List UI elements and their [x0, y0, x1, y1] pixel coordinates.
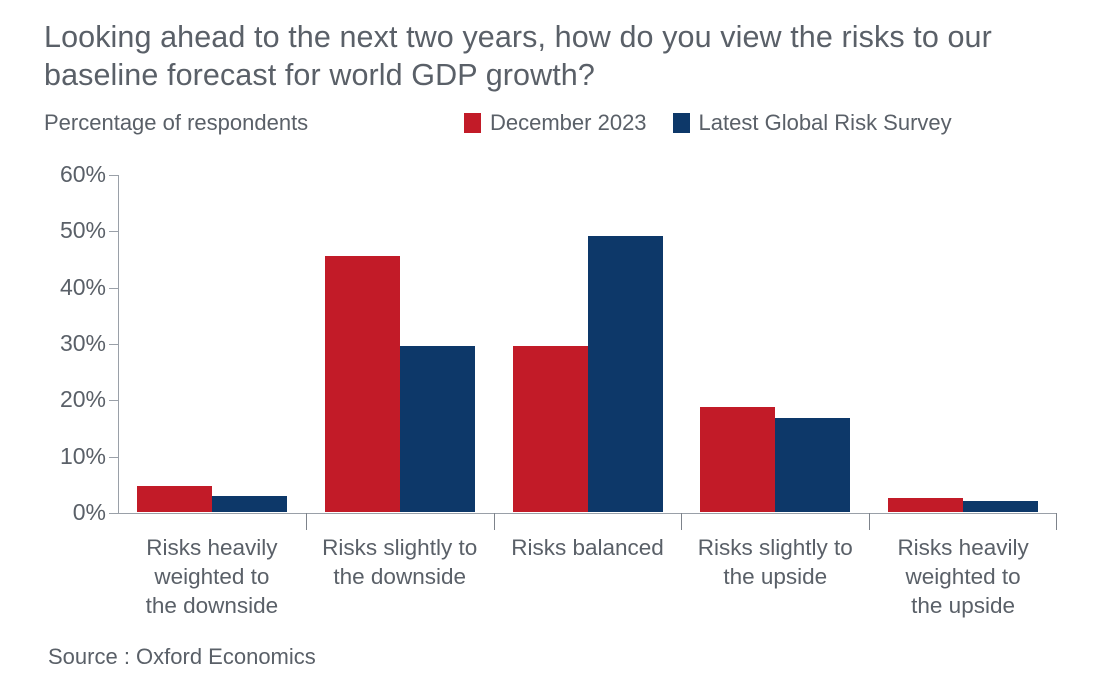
bar-latest-global-risk-survey-1[interactable] [212, 496, 287, 512]
legend-swatch-icon [464, 113, 481, 133]
x-axis-separator [306, 513, 307, 530]
title-block: Looking ahead to the next two years, how… [44, 18, 1074, 94]
legend-item-2[interactable]: Latest Global Risk Survey [673, 108, 952, 138]
y-axis-tick-label: 20% [0, 388, 106, 411]
bar-latest-global-risk-survey-3[interactable] [588, 236, 663, 512]
y-axis-tick [109, 344, 118, 345]
x-axis-separator [494, 513, 495, 530]
y-axis-tick-label: 60% [0, 163, 106, 186]
legend-label: December 2023 [490, 108, 647, 138]
subtitle-legend-row: Percentage of respondents December 2023L… [44, 108, 1064, 140]
x-axis-category-label-3: Risks balanced [488, 533, 688, 562]
page-title: Looking ahead to the next two years, how… [44, 18, 1074, 94]
source-note: Source : Oxford Economics [48, 643, 316, 671]
bar-december-2023-4[interactable] [700, 407, 775, 512]
x-axis-category-label-5: Risks heavily weighted to the upside [863, 533, 1063, 620]
bar-december-2023-5[interactable] [888, 498, 963, 512]
legend-swatch-icon [673, 113, 690, 133]
y-axis-tick [109, 288, 118, 289]
bar-december-2023-2[interactable] [325, 256, 400, 512]
x-axis-separator [681, 513, 682, 530]
y-axis-tick-label: 0% [0, 501, 106, 524]
x-axis-category-label-1: Risks heavily weighted to the downside [112, 533, 312, 620]
chart-root: Looking ahead to the next two years, how… [0, 0, 1097, 685]
y-axis-tick-label: 30% [0, 332, 106, 355]
bar-december-2023-3[interactable] [513, 346, 588, 512]
y-axis-line [118, 175, 119, 514]
x-axis-separator [1056, 513, 1057, 530]
legend-item-1[interactable]: December 2023 [464, 108, 647, 138]
bar-latest-global-risk-survey-2[interactable] [400, 346, 475, 512]
plot-area [118, 175, 1057, 513]
x-axis-category-label-2: Risks slightly to the downside [300, 533, 500, 591]
y-axis-tick-label: 50% [0, 219, 106, 242]
bar-latest-global-risk-survey-4[interactable] [775, 418, 850, 512]
x-axis-category-labels: Risks heavily weighted to the downsideRi… [118, 533, 1057, 643]
x-axis-line [118, 513, 1057, 514]
y-axis-labels: 0%10%20%30%40%50%60% [0, 175, 106, 514]
bar-latest-global-risk-survey-5[interactable] [963, 501, 1038, 512]
bar-december-2023-1[interactable] [137, 486, 212, 512]
y-axis-tick [109, 175, 118, 176]
y-axis-tick-label: 10% [0, 445, 106, 468]
x-axis-separator [869, 513, 870, 530]
y-axis-tick [109, 457, 118, 458]
legend-label: Latest Global Risk Survey [699, 108, 952, 138]
chart-subtitle: Percentage of respondents [44, 108, 308, 138]
y-axis-tick [109, 231, 118, 232]
x-axis-category-label-4: Risks slightly to the upside [675, 533, 875, 591]
y-axis-tick [109, 513, 118, 514]
chart-legend: December 2023Latest Global Risk Survey [464, 108, 952, 138]
y-axis-tick-label: 40% [0, 276, 106, 299]
y-axis-tick [109, 400, 118, 401]
